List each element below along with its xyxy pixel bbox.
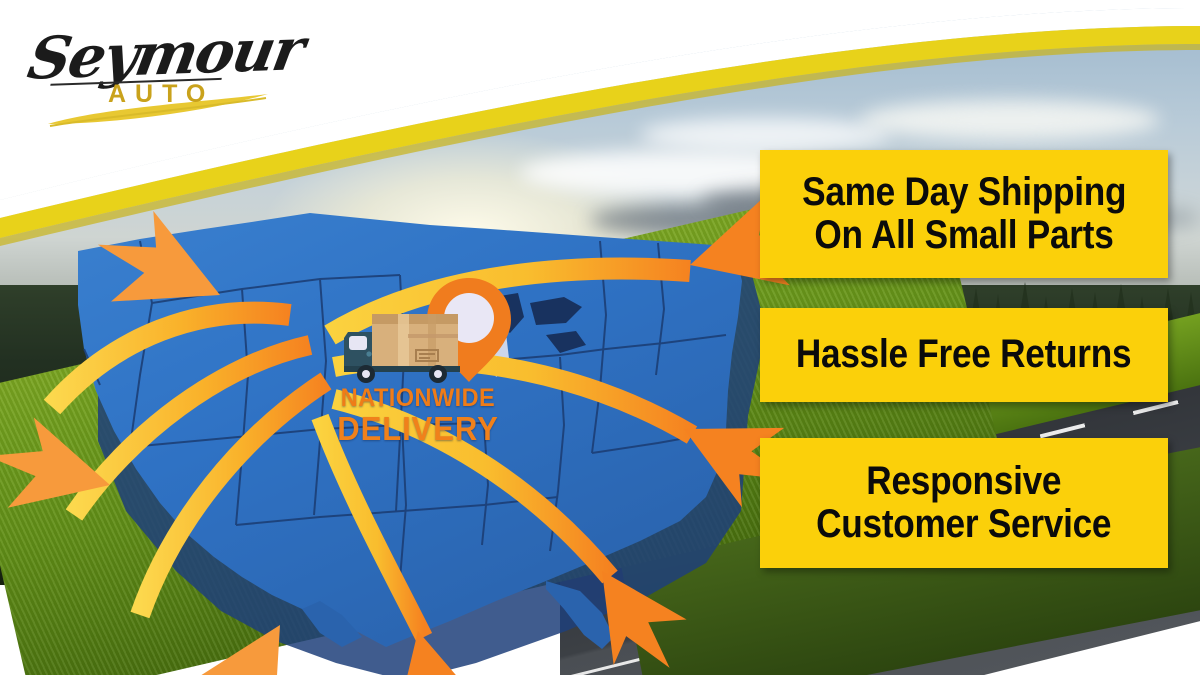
feature-line: On All Small Parts [814,214,1113,257]
feature-line: Responsive [867,460,1062,503]
nationwide-label: NATIONWIDE [324,386,512,411]
seymour-auto-logo[interactable]: Seymour AUTO [28,18,278,128]
feature-line: Customer Service [816,503,1111,546]
nationwide-delivery-badge: NATIONWIDE DELIVERY [318,276,518,451]
feature-banner-hassle-free-returns[interactable]: Hassle Free Returns [760,308,1168,402]
delivery-truck-icon [342,304,482,386]
cloud [640,118,890,152]
delivery-label: DELIVERY [324,412,512,445]
promo-banner-canvas: NATIONWIDE DELIVERY Seymour AUTO Same Da… [0,0,1200,675]
cloud [860,100,1160,140]
feature-banner-responsive-customer-service[interactable]: Responsive Customer Service [760,438,1168,568]
logo-subtext: AUTO [108,80,214,109]
feature-line: Hassle Free Returns [796,333,1131,376]
feature-line: Same Day Shipping [802,171,1126,214]
feature-banner-same-day-shipping[interactable]: Same Day Shipping On All Small Parts [760,150,1168,278]
